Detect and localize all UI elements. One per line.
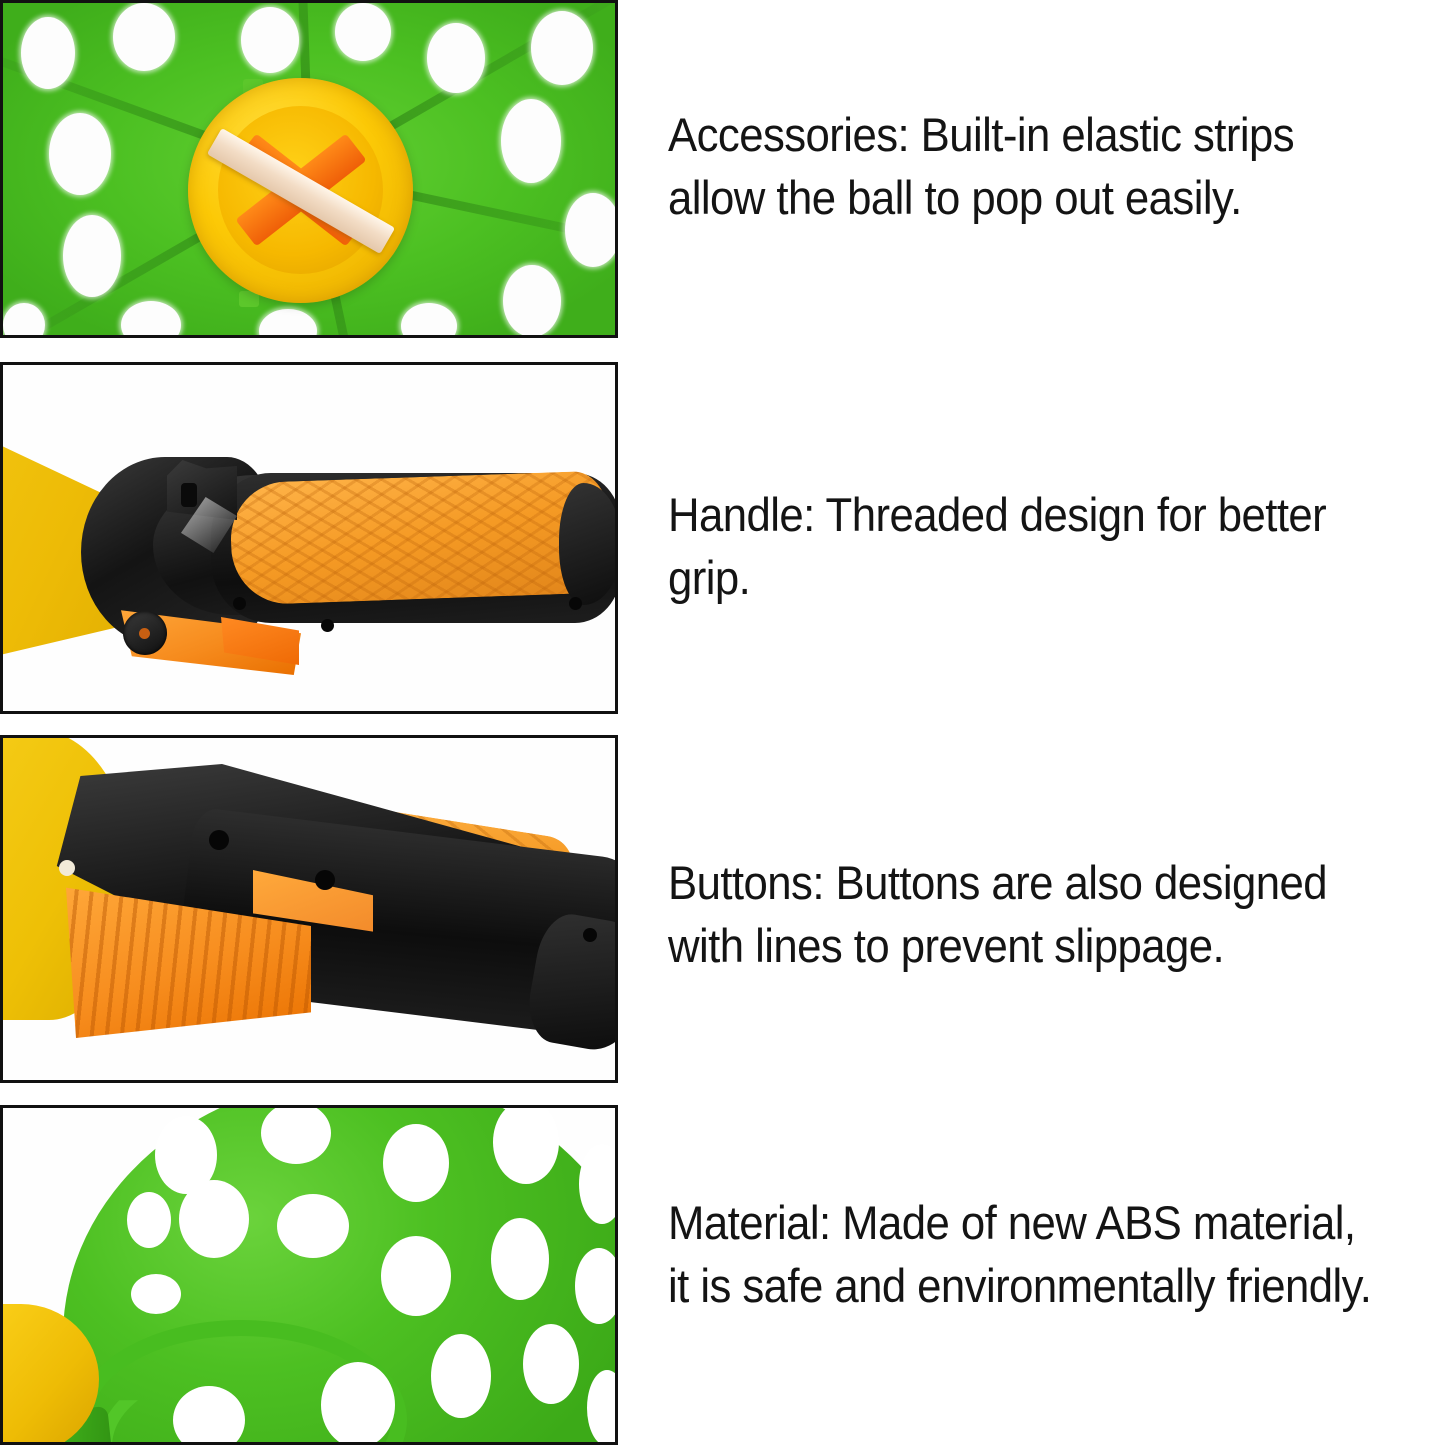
ribbed-orange-trigger-button-photo: [0, 735, 618, 1083]
threaded-orange-grip: [229, 470, 611, 605]
feature-caption-accessories: Accessories: Built-in elastic strips all…: [668, 104, 1375, 229]
feature-caption-material: Material: Made of new ABS material, it i…: [668, 1192, 1375, 1317]
handle-with-threaded-orange-grip-photo: [0, 362, 618, 714]
green-perforated-dome-photo: [0, 1105, 618, 1445]
product-feature-infographic: Accessories: Built-in elastic strips all…: [0, 0, 1445, 1445]
yellow-hub: [188, 78, 413, 303]
feature-caption-handle: Handle: Threaded design for better grip.: [668, 484, 1375, 609]
feature-caption-buttons: Buttons: Buttons are also designed with …: [668, 852, 1375, 977]
green-cup-interior-with-elastic-hub-photo: [0, 0, 618, 338]
